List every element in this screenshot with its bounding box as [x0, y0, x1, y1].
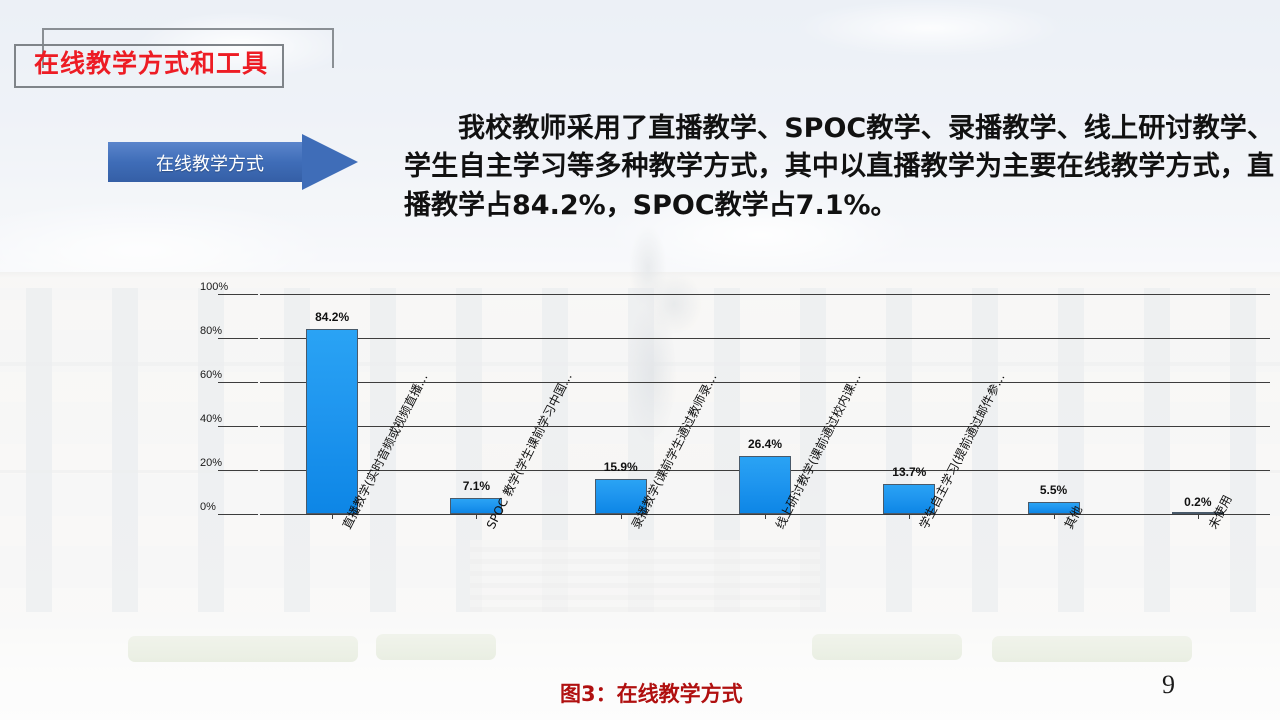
- chart-xtick-mark: [332, 514, 333, 519]
- page-title: 在线教学方式和工具: [34, 44, 268, 80]
- chart-xtick-mark: [765, 514, 766, 519]
- chart-xtick-mark: [476, 514, 477, 519]
- chart-ytick-mark: [218, 426, 258, 427]
- chart-ytick-label: 40%: [200, 413, 256, 425]
- chart-gridline: [260, 338, 1270, 339]
- chart-ytick-label: 80%: [200, 325, 256, 337]
- chart-xtick-mark: [621, 514, 622, 519]
- chart-gridline: [260, 294, 1270, 295]
- chart-caption: 图3：在线教学方式: [560, 678, 743, 708]
- chart-ytick-label: 20%: [200, 457, 256, 469]
- chart-bar-value-label: 5.5%: [1009, 483, 1099, 497]
- bar-chart: 0%20%40%60%80%100%84.2%7.1%15.9%26.4%13.…: [200, 282, 1280, 672]
- chart-ytick-mark: [218, 382, 258, 383]
- slide: 在线教学方式和工具 在线教学方式 我校教师采用了直播教学、SPOC教学、录播教学…: [0, 0, 1280, 720]
- chart-ytick-mark: [218, 470, 258, 471]
- chart-xtick-mark: [1054, 514, 1055, 519]
- chart-ytick-mark: [218, 514, 258, 515]
- chart-gridline: [260, 426, 1270, 427]
- chart-ytick-mark: [218, 294, 258, 295]
- chart-bar-value-label: 26.4%: [720, 437, 810, 451]
- chart-xtick-mark: [1198, 514, 1199, 519]
- page-number: 9: [1162, 670, 1175, 700]
- chart-bar[interactable]: [306, 329, 358, 514]
- section-banner-label: 在线教学方式: [156, 150, 264, 176]
- arrow-head-icon: [302, 134, 358, 190]
- chart-ytick-label: 60%: [200, 369, 256, 381]
- chart-ytick-mark: [218, 338, 258, 339]
- body-paragraph: 我校教师采用了直播教学、SPOC教学、录播教学、线上研讨教学、学生自主学习等多种…: [404, 110, 1274, 225]
- chart-ytick-label: 0%: [200, 501, 256, 513]
- chart-bar-value-label: 84.2%: [287, 310, 377, 324]
- chart-ytick-label: 100%: [200, 281, 256, 293]
- chart-xtick-mark: [909, 514, 910, 519]
- section-arrow-banner: 在线教学方式: [108, 134, 358, 190]
